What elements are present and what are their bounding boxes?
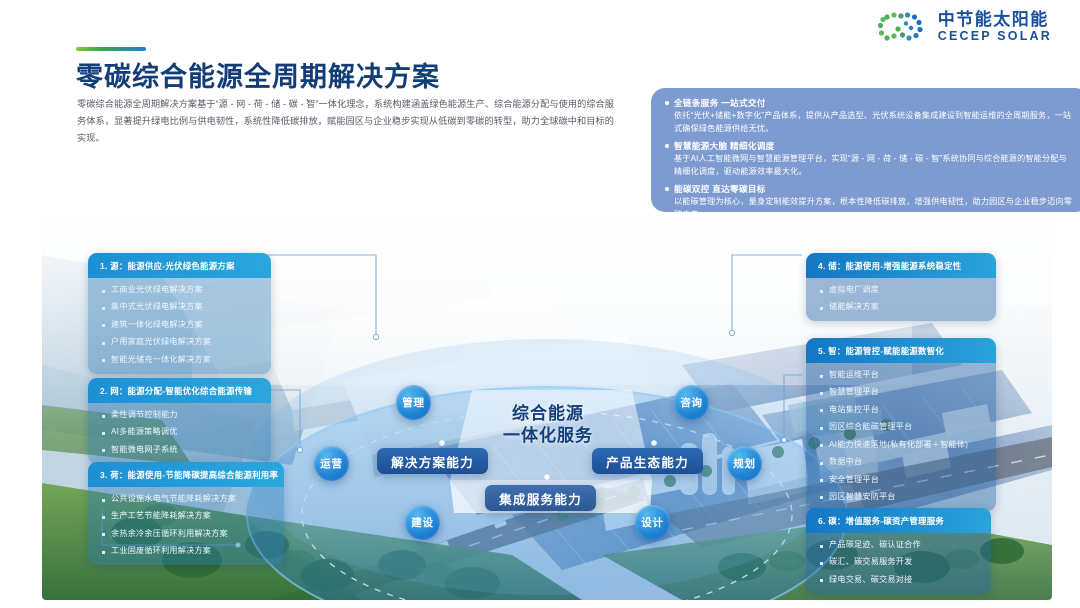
slide-root: 中节能太阳能 CECEP SOLAR 零碳综合能源全周期解决方案 零碳综合能源全… bbox=[0, 0, 1080, 608]
list-item-label: 建筑一体化绿电解决方案 bbox=[111, 320, 203, 331]
bullet-dot-icon bbox=[665, 101, 669, 105]
hub-node-build[interactable]: 建设 bbox=[405, 505, 440, 540]
panel-body: 柔性调节控制能力 AI多能源策略调优 智能微电网子系统 bbox=[88, 403, 271, 464]
list-item: 建筑一体化绿电解决方案 bbox=[102, 320, 261, 331]
capability-bar-solution[interactable]: 解决方案能力 bbox=[377, 448, 488, 474]
info-panel-carbon[interactable]: 6. 碳：增值服务-碳资产管理服务 产品碳足迹、碳认证合作 碳汇、碳交易服务开发… bbox=[806, 508, 991, 594]
capability-bar-integration[interactable]: 集成服务能力 bbox=[485, 485, 596, 511]
bullet-square-icon bbox=[820, 444, 823, 447]
list-item-label: 智慧管理平台 bbox=[829, 387, 879, 398]
list-item-label: 集中式光伏绿电解决方案 bbox=[111, 302, 203, 313]
panel-body: 产品碳足迹、碳认证合作 碳汇、碳交易服务开发 绿电交易、碳交易对接 bbox=[806, 533, 991, 594]
list-item-label: 安全管理平台 bbox=[829, 475, 879, 486]
brand-logo: 中节能太阳能 CECEP SOLAR bbox=[876, 10, 1052, 44]
list-item: 余热余冷余压循环利用解决方案 bbox=[102, 529, 274, 540]
list-item-label: 产品碳足迹、碳认证合作 bbox=[829, 540, 921, 551]
highlight-item: 智慧能源大脑 精细化调度 基于AI人工智能微网与智慧能源管理平台，实现“源 - … bbox=[665, 140, 1075, 179]
hub-node-consult[interactable]: 咨询 bbox=[674, 385, 709, 420]
bullet-square-icon bbox=[102, 415, 105, 418]
bullet-square-icon bbox=[820, 307, 823, 310]
list-item: 智能微电网子系统 bbox=[102, 445, 261, 456]
list-item-label: 碳汇、碳交易服务开发 bbox=[829, 557, 912, 568]
panel-body: 工商业光伏绿电解决方案 集中式光伏绿电解决方案 建筑一体化绿电解决方案 户用家庭… bbox=[88, 278, 271, 374]
bullet-square-icon bbox=[102, 499, 105, 502]
list-item: 公共设施水电气节能降耗解决方案 bbox=[102, 494, 274, 505]
bullet-square-icon bbox=[820, 427, 823, 430]
list-item: AI能力快速落地(私有化部署＋智能体) bbox=[820, 440, 986, 451]
highlights-box: 全链条服务 一站式交付 依托“光伏+储能+数字化”产品体系，提供从产品选型、光伏… bbox=[651, 88, 1080, 212]
highlight-body: 依托“光伏+储能+数字化”产品体系，提供从产品选型、光伏系统设备集成建设到智能运… bbox=[665, 110, 1075, 136]
logo-text-cn: 中节能太阳能 bbox=[938, 11, 1052, 29]
list-item: 户用家庭光伏绿电解决方案 bbox=[102, 337, 261, 348]
list-item-label: 工商业光伏绿电解决方案 bbox=[111, 285, 203, 296]
bullet-square-icon bbox=[102, 307, 105, 310]
list-item-label: 电站集控平台 bbox=[829, 405, 879, 416]
panel-title: 2. 网：能源分配-智能优化综合能源传输 bbox=[88, 378, 271, 403]
bullet-square-icon bbox=[102, 516, 105, 519]
title-accent-bar bbox=[76, 47, 146, 51]
list-item: 数据中台 bbox=[820, 457, 986, 468]
info-panel-grid[interactable]: 2. 网：能源分配-智能优化综合能源传输 柔性调节控制能力 AI多能源策略调优 … bbox=[88, 378, 271, 464]
list-item: 工业固废循环利用解决方案 bbox=[102, 546, 274, 557]
highlight-title: 全链条服务 一站式交付 bbox=[674, 97, 766, 109]
list-item: 智能光储充一体化解决方案 bbox=[102, 355, 261, 366]
info-panel-load[interactable]: 3. 荷：能源使用-节能降碳提高综合能源利用率 公共设施水电气节能降耗解决方案 … bbox=[88, 462, 284, 565]
list-item: 储能解决方案 bbox=[820, 302, 986, 313]
list-item-label: 公共设施水电气节能降耗解决方案 bbox=[111, 494, 236, 505]
highlight-body: 以能碳管理为核心，量身定制能效提升方案，根本性降低碳排放，增强供电韧性，助力园区… bbox=[665, 196, 1075, 212]
list-item-label: 生产工艺节能降耗解决方案 bbox=[111, 511, 211, 522]
list-item-label: 智能微电网子系统 bbox=[111, 445, 178, 456]
bullet-square-icon bbox=[102, 533, 105, 536]
list-item-label: 柔性调节控制能力 bbox=[111, 410, 178, 421]
list-item-label: 储能解决方案 bbox=[829, 302, 879, 313]
list-item-label: 园区综合能碳管理平台 bbox=[829, 422, 912, 433]
list-item: 绿电交易、碳交易对接 bbox=[820, 575, 981, 586]
bullet-dot-icon bbox=[665, 187, 669, 191]
list-item: 虚拟电厂调度 bbox=[820, 285, 986, 296]
hub-node-plan[interactable]: 规划 bbox=[727, 446, 762, 481]
list-item: 智能运维平台 bbox=[820, 370, 986, 381]
highlight-title: 智慧能源大脑 精细化调度 bbox=[674, 140, 775, 152]
intro-paragraph: 零碳综合能源全周期解决方案基于“源 - 网 - 荷 - 储 - 碳 - 智”一体… bbox=[77, 96, 614, 147]
list-item: 园区综合能碳管理平台 bbox=[820, 422, 986, 433]
bullet-square-icon bbox=[102, 359, 105, 362]
list-item: 园区智慧安防平台 bbox=[820, 492, 986, 503]
panel-title: 6. 碳：增值服务-碳资产管理服务 bbox=[806, 508, 991, 533]
list-item-label: 虚拟电厂调度 bbox=[829, 285, 879, 296]
bullet-square-icon bbox=[820, 579, 823, 582]
bullet-square-icon bbox=[102, 551, 105, 554]
list-item: 工商业光伏绿电解决方案 bbox=[102, 285, 261, 296]
bullet-square-icon bbox=[820, 375, 823, 378]
panel-title: 1. 源：能源供应-光伏绿色能源方案 bbox=[88, 253, 271, 278]
list-item: 安全管理平台 bbox=[820, 475, 986, 486]
bullet-square-icon bbox=[820, 392, 823, 395]
bullet-square-icon bbox=[102, 324, 105, 327]
list-item: 碳汇、碳交易服务开发 bbox=[820, 557, 981, 568]
bullet-square-icon bbox=[102, 342, 105, 345]
bullet-square-icon bbox=[820, 479, 823, 482]
list-item-label: 园区智慧安防平台 bbox=[829, 492, 896, 503]
list-item-label: 余热余冷余压循环利用解决方案 bbox=[111, 529, 228, 540]
list-item: AI多能源策略调优 bbox=[102, 427, 261, 438]
info-panel-source[interactable]: 1. 源：能源供应-光伏绿色能源方案 工商业光伏绿电解决方案 集中式光伏绿电解决… bbox=[88, 253, 271, 374]
hub-center-line2: 一体化服务 bbox=[458, 425, 638, 447]
list-item: 产品碳足迹、碳认证合作 bbox=[820, 540, 981, 551]
bullet-square-icon bbox=[102, 432, 105, 435]
highlight-heading: 能碳双控 直达零碳目标 bbox=[665, 183, 1075, 195]
panel-title: 3. 荷：能源使用-节能降碳提高综合能源利用率 bbox=[88, 462, 284, 487]
panel-title: 4. 储：能源使用-增强能源系统稳定性 bbox=[806, 253, 996, 278]
info-panel-storage[interactable]: 4. 储：能源使用-增强能源系统稳定性 虚拟电厂调度 储能解决方案 bbox=[806, 253, 996, 321]
dotted-infinity-logo-icon bbox=[876, 10, 928, 44]
list-item: 柔性调节控制能力 bbox=[102, 410, 261, 421]
list-item-label: 数据中台 bbox=[829, 457, 862, 468]
bullet-square-icon bbox=[102, 290, 105, 293]
list-item-label: 智能光储充一体化解决方案 bbox=[111, 355, 211, 366]
highlight-body: 基于AI人工智能微网与智慧能源管理平台，实现“源 - 网 - 荷 - 储 - 碳… bbox=[665, 153, 1075, 179]
bullet-square-icon bbox=[820, 462, 823, 465]
panel-title: 5. 智：能源管控-赋能能源数智化 bbox=[806, 338, 996, 363]
bullet-square-icon bbox=[820, 562, 823, 565]
highlight-item: 全链条服务 一站式交付 依托“光伏+储能+数字化”产品体系，提供从产品选型、光伏… bbox=[665, 97, 1075, 136]
list-item: 电站集控平台 bbox=[820, 405, 986, 416]
list-item-label: AI能力快速落地(私有化部署＋智能体) bbox=[829, 440, 968, 451]
highlight-item: 能碳双控 直达零碳目标 以能碳管理为核心，量身定制能效提升方案，根本性降低碳排放… bbox=[665, 183, 1075, 212]
list-item: 智慧管理平台 bbox=[820, 387, 986, 398]
bullet-square-icon bbox=[820, 545, 823, 548]
hub-center-line1: 综合能源 bbox=[458, 403, 638, 425]
highlight-heading: 智慧能源大脑 精细化调度 bbox=[665, 140, 1075, 152]
list-item-label: 智能运维平台 bbox=[829, 370, 879, 381]
list-item-label: 工业固废循环利用解决方案 bbox=[111, 546, 211, 557]
hub-node-operate[interactable]: 运营 bbox=[314, 446, 349, 481]
highlight-title: 能碳双控 直达零碳目标 bbox=[674, 183, 766, 195]
panel-body: 公共设施水电气节能降耗解决方案 生产工艺节能降耗解决方案 余热余冷余压循环利用解… bbox=[88, 487, 284, 565]
info-panel-smart[interactable]: 5. 智：能源管控-赋能能源数智化 智能运维平台 智慧管理平台 电站集控平台 园… bbox=[806, 338, 996, 511]
list-item-label: 绿电交易、碳交易对接 bbox=[829, 575, 912, 586]
bullet-square-icon bbox=[820, 496, 823, 499]
hub-node-manage[interactable]: 管理 bbox=[396, 385, 431, 420]
list-item-label: 户用家庭光伏绿电解决方案 bbox=[111, 337, 211, 348]
list-item-label: AI多能源策略调优 bbox=[111, 427, 178, 438]
highlight-heading: 全链条服务 一站式交付 bbox=[665, 97, 1075, 109]
bullet-square-icon bbox=[820, 290, 823, 293]
hub-center-title: 综合能源 一体化服务 bbox=[458, 403, 638, 448]
logo-text-en: CECEP SOLAR bbox=[938, 30, 1052, 43]
list-item: 集中式光伏绿电解决方案 bbox=[102, 302, 261, 313]
bullet-square-icon bbox=[820, 409, 823, 412]
list-item: 生产工艺节能降耗解决方案 bbox=[102, 511, 274, 522]
panel-body: 智能运维平台 智慧管理平台 电站集控平台 园区综合能碳管理平台 AI能力快速落地… bbox=[806, 363, 996, 511]
page-title: 零碳综合能源全周期解决方案 bbox=[76, 55, 440, 94]
bullet-square-icon bbox=[102, 449, 105, 452]
panel-body: 虚拟电厂调度 储能解决方案 bbox=[806, 278, 996, 321]
hub-node-design[interactable]: 设计 bbox=[635, 505, 670, 540]
bullet-dot-icon bbox=[665, 144, 669, 148]
capability-bar-product[interactable]: 产品生态能力 bbox=[592, 448, 703, 474]
